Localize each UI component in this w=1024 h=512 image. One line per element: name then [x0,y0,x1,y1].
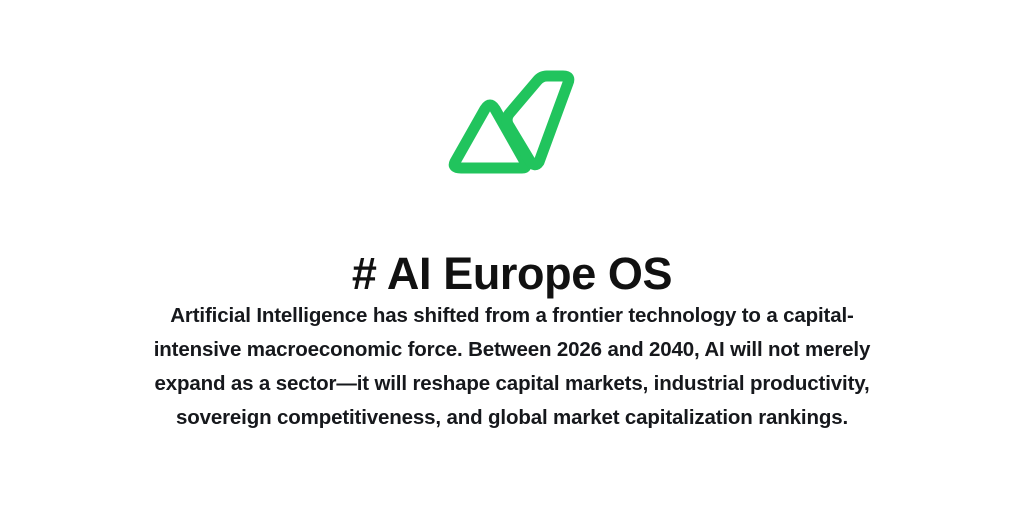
title-slide: # AI Europe OS Artificial Intelligence h… [0,0,1024,512]
page-title: # AI Europe OS [0,248,1024,300]
paragraph-line: Artificial Intelligence has shifted from… [138,299,886,333]
paragraph-line: sovereign competitiveness, and global ma… [138,401,886,435]
paragraph-line: expand as a sector—it will reshape capit… [138,367,886,401]
brand-logo [447,74,577,170]
intro-paragraph: Artificial Intelligence has shifted from… [138,299,886,435]
paragraph-line: intensive macroeconomic force. Between 2… [138,333,886,367]
logo-mark-icon [447,74,577,170]
